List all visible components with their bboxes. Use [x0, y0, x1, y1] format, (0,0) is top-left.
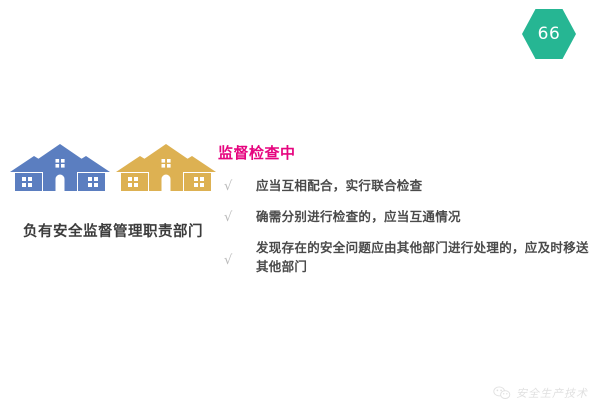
list-item: √ 确需分别进行检查的，应当互通情况: [218, 208, 590, 227]
list-item-text: 应当互相配合，实行联合检查: [256, 177, 590, 196]
department-illustration-block: 负有安全监督管理职责部门: [8, 140, 218, 241]
wechat-icon: [493, 386, 511, 400]
section-heading: 监督检查中: [218, 142, 590, 163]
list-item-text: 确需分别进行检查的，应当互通情况: [256, 208, 590, 227]
list-item: √ 应当互相配合，实行联合检查: [218, 177, 590, 196]
check-icon: √: [218, 251, 256, 270]
house-icon-gold: [116, 142, 216, 192]
watermark-label: 安全生产技术: [516, 385, 588, 401]
content-block: 监督检查中 √ 应当互相配合，实行联合检查 √ 确需分别进行检查的，应当互通情况…: [218, 142, 590, 289]
list-item-text: 发现存在的安全问题应由其他部门进行处理的，应及时移送其他部门: [256, 239, 590, 277]
list-item: √ 发现存在的安全问题应由其他部门进行处理的，应及时移送其他部门: [218, 239, 590, 277]
slide-canvas: 66: [0, 0, 600, 415]
department-caption: 负有安全监督管理职责部门: [8, 220, 218, 241]
check-icon: √: [218, 177, 256, 196]
checklist: √ 应当互相配合，实行联合检查 √ 确需分别进行检查的，应当互通情况 √ 发现存…: [218, 177, 590, 277]
house-icon-group: [8, 140, 218, 192]
watermark: 安全生产技术: [493, 385, 588, 401]
check-icon: √: [218, 208, 256, 227]
list-item-text-line2: 其他部门: [256, 258, 590, 277]
page-number-label: 66: [522, 8, 576, 60]
list-item-text-line1: 发现存在的安全问题应由其他部门进行处理的，应及时移送: [256, 241, 589, 255]
house-icon-blue: [10, 142, 110, 192]
page-number-badge: 66: [522, 8, 576, 60]
